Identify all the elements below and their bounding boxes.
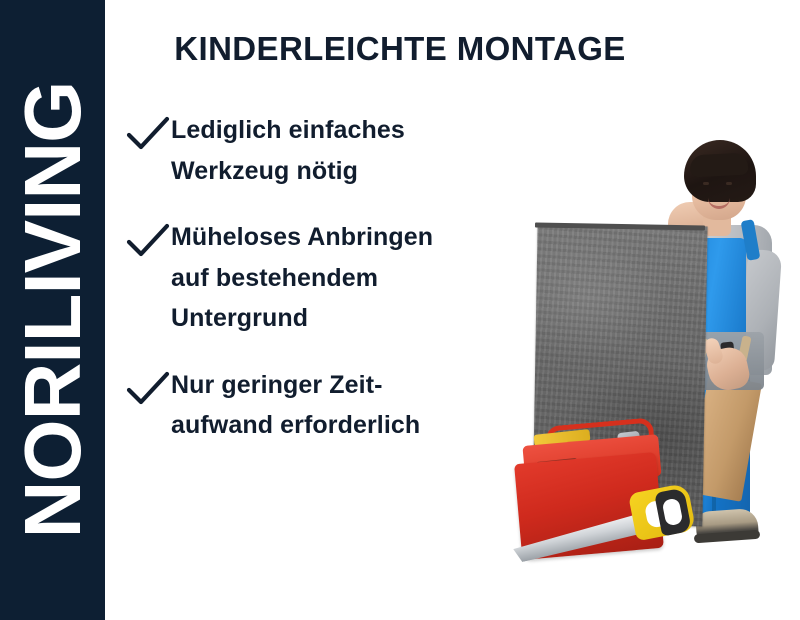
list-item-text: Nur geringer Zeit- aufwand erforderlich bbox=[171, 365, 420, 446]
list-item-line: aufwand erforderlich bbox=[171, 411, 420, 439]
list-item-line: Lediglich einfaches bbox=[171, 116, 405, 144]
list-item: Müheloses Anbringen auf bestehendem Unte… bbox=[125, 217, 505, 339]
list-item-line: auf bestehendem bbox=[171, 264, 378, 292]
list-item-line: Nur geringer Zeit- bbox=[171, 371, 383, 399]
brand-name: NORILIVING bbox=[0, 0, 105, 620]
checkmark-icon bbox=[125, 114, 171, 154]
list-item: Lediglich einfaches Werkzeug nötig bbox=[125, 110, 505, 191]
list-item-line: Untergrund bbox=[171, 304, 308, 332]
hair-fringe bbox=[689, 152, 748, 177]
checkmark-icon bbox=[125, 221, 171, 261]
eye-right bbox=[726, 182, 732, 185]
list-item: Nur geringer Zeit- aufwand erforderlich bbox=[125, 365, 505, 446]
list-item-line: Müheloses Anbringen bbox=[171, 223, 433, 251]
benefit-list: Lediglich einfaches Werkzeug nötig Mühel… bbox=[125, 110, 505, 446]
list-item-text: Müheloses Anbringen auf bestehendem Unte… bbox=[171, 217, 433, 339]
page-title: KINDERLEICHTE MONTAGE bbox=[105, 30, 695, 68]
list-item-line: Werkzeug nötig bbox=[171, 157, 358, 185]
list-item-text: Lediglich einfaches Werkzeug nötig bbox=[171, 110, 405, 191]
promo-poster: NORILIVING KINDERLEICHTE MONTAGE Ledigli… bbox=[0, 0, 800, 620]
eye-left bbox=[703, 182, 709, 185]
checkmark-icon bbox=[125, 369, 171, 409]
product-photo bbox=[500, 110, 800, 620]
brand-band: NORILIVING bbox=[0, 0, 105, 620]
